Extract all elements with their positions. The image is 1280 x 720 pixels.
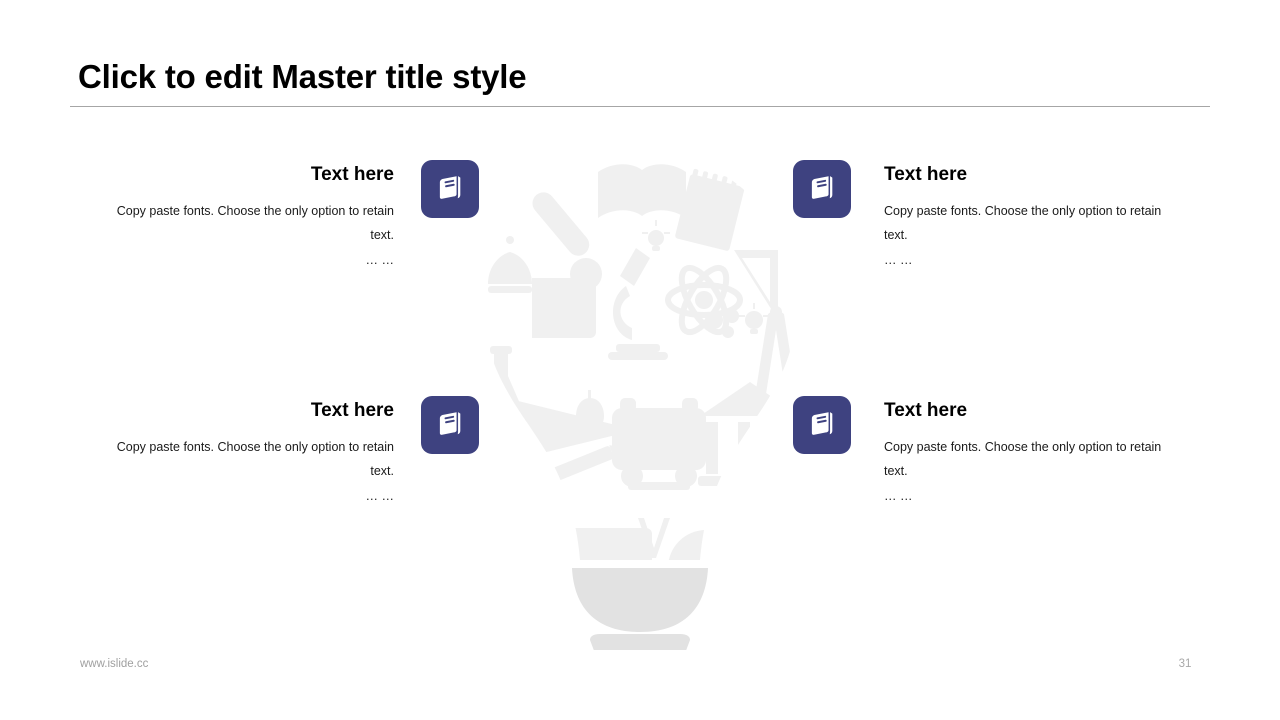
feature-heading: Text here: [110, 400, 394, 423]
feature-heading: Text here: [884, 400, 1168, 423]
feature-ellipsis: … …: [110, 484, 394, 508]
feature-body: Copy paste fonts. Choose the only option…: [884, 199, 1168, 248]
content-row-top: Text here Copy paste fonts. Choose the o…: [0, 150, 1280, 350]
book-icon: [807, 410, 837, 440]
page-number: 31: [1160, 658, 1210, 670]
content-area: Text here Copy paste fonts. Choose the o…: [0, 150, 1280, 570]
book-icon-badge-bottom-left[interactable]: [421, 396, 479, 454]
book-icon-badge-top-right[interactable]: [793, 160, 851, 218]
page-title: Click to edit Master title style: [78, 58, 526, 96]
feature-heading: Text here: [110, 164, 394, 187]
title-divider: [70, 106, 1210, 107]
footer-url[interactable]: www.islide.cc: [80, 658, 148, 670]
book-icon-badge-bottom-right[interactable]: [793, 396, 851, 454]
book-icon-badge-top-left[interactable]: [421, 160, 479, 218]
content-row-bottom: Text here Copy paste fonts. Choose the o…: [0, 386, 1280, 586]
feature-block-top-left: Text here Copy paste fonts. Choose the o…: [110, 164, 394, 272]
feature-body: Copy paste fonts. Choose the only option…: [110, 199, 394, 248]
feature-block-bottom-right: Text here Copy paste fonts. Choose the o…: [884, 400, 1168, 508]
feature-ellipsis: … …: [884, 248, 1168, 272]
feature-heading: Text here: [884, 164, 1168, 187]
book-icon: [435, 410, 465, 440]
feature-block-bottom-left: Text here Copy paste fonts. Choose the o…: [110, 400, 394, 508]
book-icon: [807, 174, 837, 204]
feature-ellipsis: … …: [884, 484, 1168, 508]
feature-body: Copy paste fonts. Choose the only option…: [884, 435, 1168, 484]
book-icon: [435, 174, 465, 204]
feature-ellipsis: … …: [110, 248, 394, 272]
feature-block-top-right: Text here Copy paste fonts. Choose the o…: [884, 164, 1168, 272]
feature-body: Copy paste fonts. Choose the only option…: [110, 435, 394, 484]
